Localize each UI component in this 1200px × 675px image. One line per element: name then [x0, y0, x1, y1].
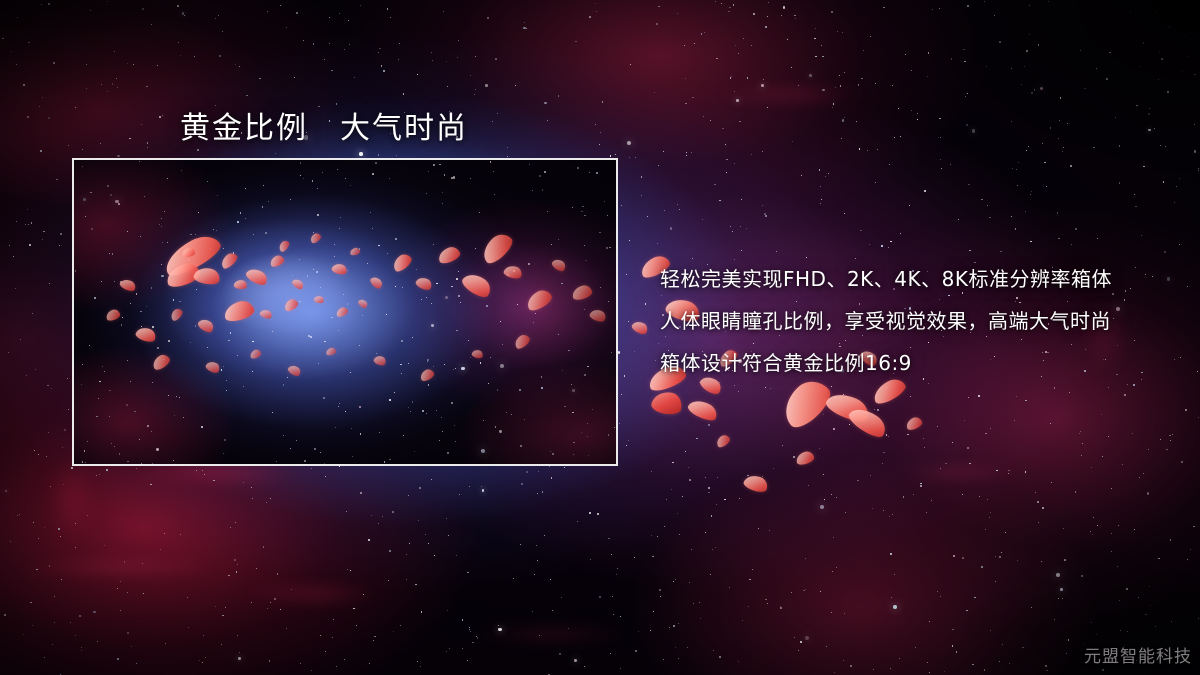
display-panel-frame [72, 158, 618, 466]
body-copy-block: 轻松完美实现FHD、2K、4K、8K标准分辨率箱体 人体眼睛瞳孔比例，享受视觉效… [660, 258, 1160, 384]
flower-petal [650, 389, 684, 417]
body-line-2: 人体眼睛瞳孔比例，享受视觉效果，高端大气时尚 [660, 300, 1160, 342]
flower-petal [795, 450, 816, 466]
body-line-3: 箱体设计符合黄金比例16:9 [660, 342, 1160, 384]
page-title: 黄金比例 大气时尚 [180, 103, 468, 147]
flower-petal [714, 433, 731, 449]
flower-petal [630, 319, 649, 337]
flower-petal [742, 472, 770, 494]
panel-vignette [74, 160, 616, 464]
slide-canvas: 黄金比例 大气时尚 轻松完美实现FHD、2K、4K、8K标准分辨率箱体 人体眼睛… [0, 0, 1200, 675]
watermark-label: 元盟智能科技 [1084, 642, 1192, 667]
flower-petal [686, 396, 720, 424]
flower-petal [905, 415, 924, 431]
body-line-1: 轻松完美实现FHD、2K、4K、8K标准分辨率箱体 [660, 258, 1160, 300]
